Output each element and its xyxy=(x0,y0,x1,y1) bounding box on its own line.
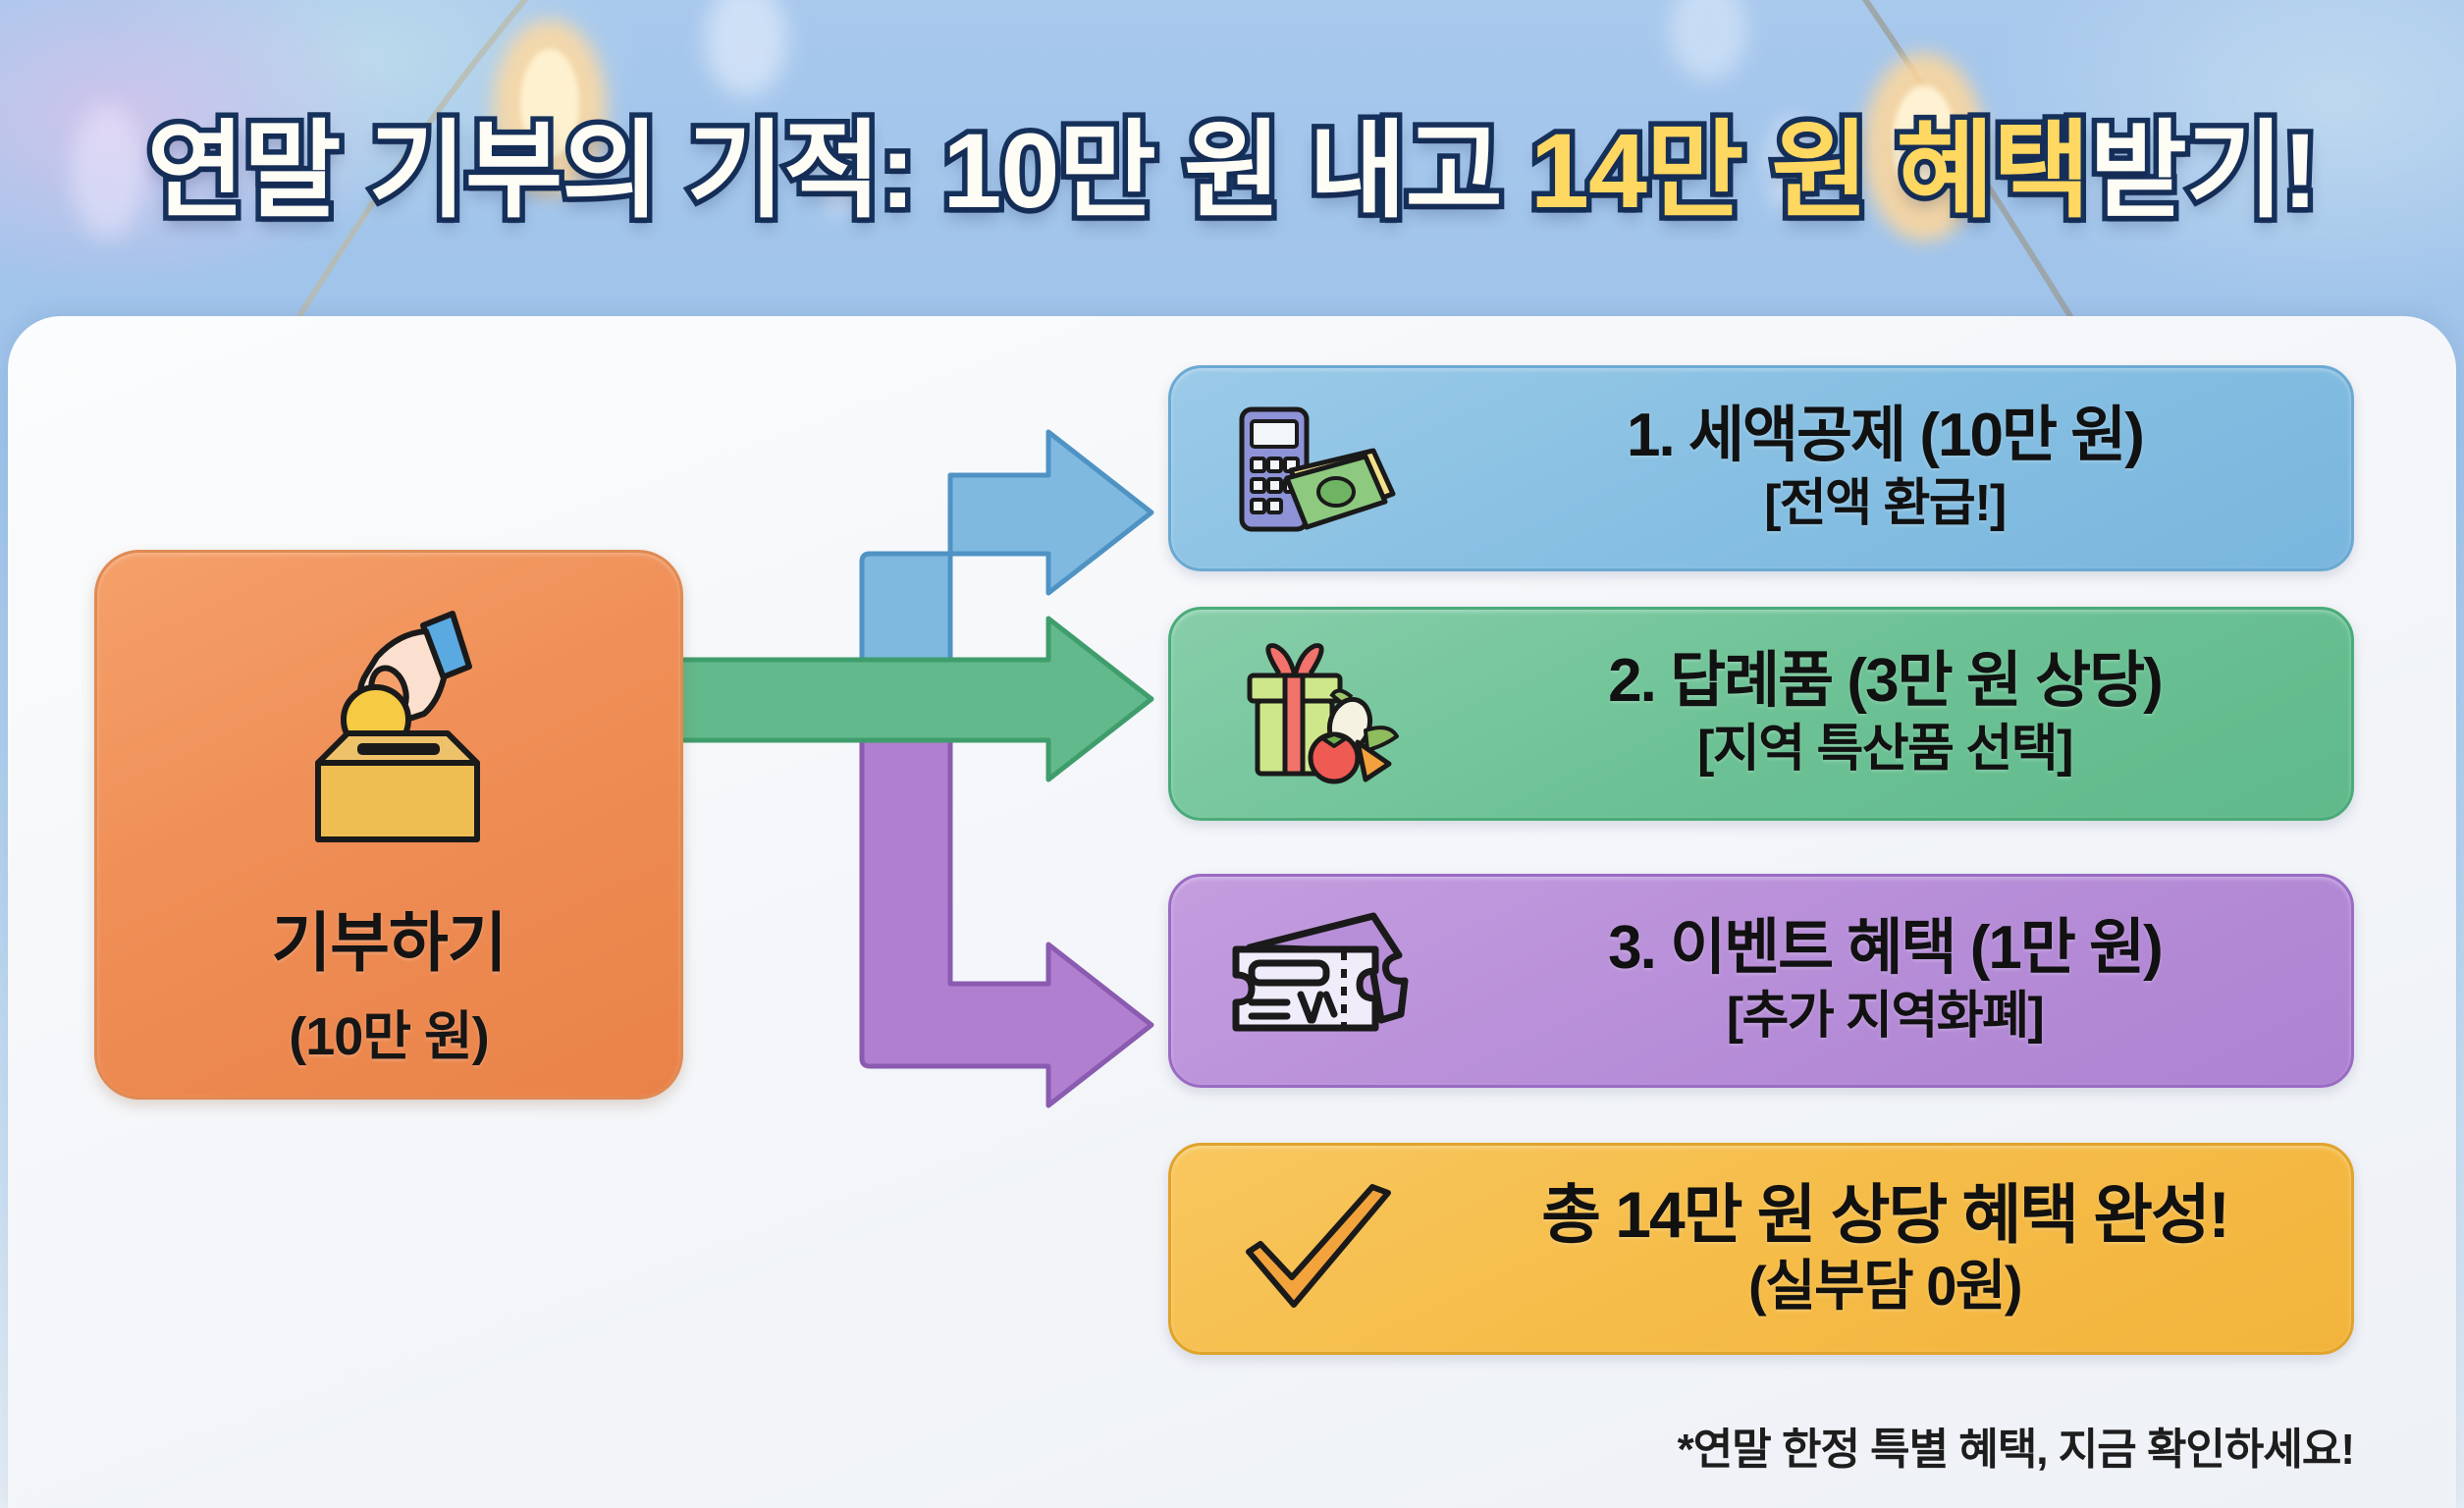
donate-box[interactable]: 기부하기 (10만 원) xyxy=(94,550,683,1100)
total-benefit-card[interactable]: 총 14만 원 상당 혜택 완성! (실부담 0원) xyxy=(1168,1143,2354,1355)
card-icon-slot xyxy=(1199,400,1444,537)
card-title: 2. 답례품 (3만 원 상당) xyxy=(1444,649,2326,715)
card-subtitle: [전액 환급!] xyxy=(1444,475,2326,532)
benefit-card-event[interactable]: 3. 이벤트 혜택 (1만 원) [추가 지역화폐] xyxy=(1168,874,2354,1088)
card-title: 3. 이벤트 혜택 (1만 원) xyxy=(1444,916,2326,982)
bulb-faint-d xyxy=(1669,0,1747,81)
card-icon-slot xyxy=(1199,1175,1444,1322)
title-part-1: 연말 기부의 기적: 10만 원 내고 xyxy=(147,111,1530,230)
ticket-icon xyxy=(1226,912,1418,1050)
hand-coin-donation-box-icon xyxy=(241,598,536,873)
gift-vegetables-icon xyxy=(1228,640,1415,787)
benefit-card-gift-return[interactable]: 2. 답례품 (3만 원 상당) [지역 특산품 선택] xyxy=(1168,607,2354,821)
card-text: 3. 이벤트 혜택 (1만 원) [추가 지역화폐] xyxy=(1444,916,2351,1045)
poster-title: 연말 기부의 기적: 10만 원 내고 14만 원 혜택받기! xyxy=(0,118,2464,224)
card-icon-slot xyxy=(1199,640,1444,787)
donate-amount: (10만 원) xyxy=(289,993,488,1070)
card-text: 2. 답례품 (3만 원 상당) [지역 특산품 선택] xyxy=(1444,649,2351,778)
total-title: 총 14만 원 상당 혜택 완성! xyxy=(1444,1180,2326,1250)
benefit-card-tax-deduction[interactable]: 1. 세액공제 (10만 원) [전액 환급!] xyxy=(1168,365,2354,571)
card-subtitle: [지역 특산품 선택] xyxy=(1444,721,2326,778)
card-text: 총 14만 원 상당 혜택 완성! (실부담 0원) xyxy=(1444,1180,2351,1318)
title-highlight: 14만 원 혜택 xyxy=(1530,111,2090,230)
footer-note: *연말 한정 특별 혜택, 지금 확인하세요! xyxy=(8,1414,2354,1477)
donate-label: 기부하기 xyxy=(272,890,507,985)
card-text: 1. 세액공제 (10만 원) [전액 환급!] xyxy=(1444,404,2351,532)
title-part-2: 받기! xyxy=(2090,111,2318,230)
checkmark-icon xyxy=(1233,1175,1410,1322)
card-title: 1. 세액공제 (10만 원) xyxy=(1444,404,2326,469)
content-panel: 기부하기 (10만 원) xyxy=(8,316,2456,1508)
total-subtitle: (실부담 0원) xyxy=(1444,1256,2326,1318)
card-icon-slot xyxy=(1199,912,1444,1050)
card-subtitle: [추가 지역화폐] xyxy=(1444,988,2326,1045)
infographic-poster: 연말 기부의 기적: 10만 원 내고 14만 원 혜택받기! xyxy=(0,0,2464,1508)
bulb-faint-a xyxy=(705,0,787,96)
flow-arrows xyxy=(656,355,1255,1455)
calculator-money-icon xyxy=(1228,400,1415,537)
